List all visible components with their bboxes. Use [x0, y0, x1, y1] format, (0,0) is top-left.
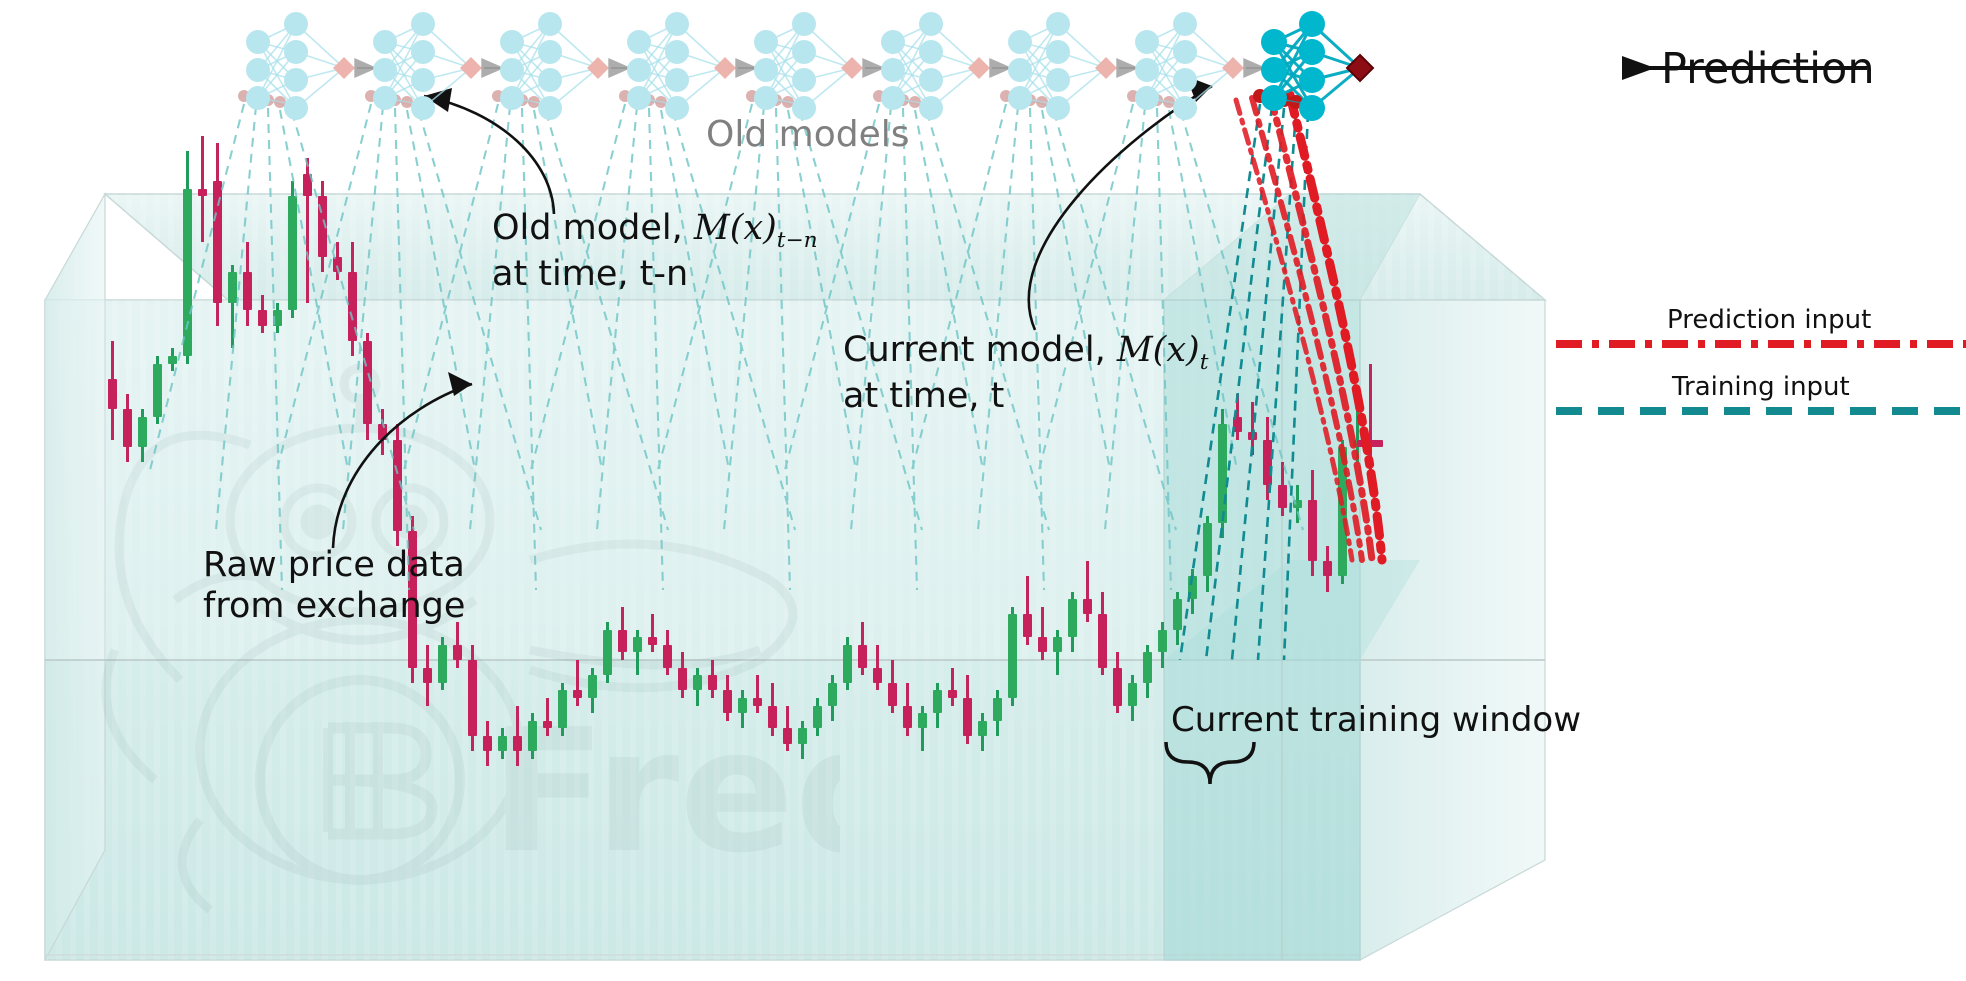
candle-body	[1173, 599, 1182, 629]
candle-body	[813, 706, 822, 729]
candle-body	[558, 690, 567, 728]
candle-body	[723, 690, 732, 713]
annotation-old-model: Old model, M(x)t−n at time, t-n	[492, 208, 818, 295]
candle-body	[948, 690, 957, 698]
candle-body	[1323, 561, 1332, 576]
candle-body	[1023, 614, 1032, 637]
candle-body	[1113, 668, 1122, 706]
candle-body	[753, 698, 762, 706]
candle-body	[378, 424, 387, 439]
candle-body	[168, 356, 177, 364]
candle-body	[618, 630, 627, 653]
candle-body	[1038, 637, 1047, 652]
candle-body	[498, 736, 507, 751]
candle-body	[333, 257, 342, 272]
candle-body	[153, 364, 162, 417]
candle-body	[258, 310, 267, 325]
candle-body	[1068, 599, 1077, 637]
candle-body	[288, 196, 297, 310]
candle-body	[363, 341, 372, 425]
candle-body	[1293, 500, 1302, 508]
current-model-sub: t	[1200, 350, 1209, 375]
candle-body	[918, 713, 927, 728]
old-model-network	[238, 12, 377, 120]
freqai-architecture-figure: FreqAI Old models Prediction Old model, …	[0, 0, 1966, 981]
candle-body	[468, 660, 477, 736]
old-model-network	[873, 12, 1012, 120]
old-model-prefix: Old model,	[492, 208, 694, 248]
candle-body	[633, 637, 642, 652]
candle-body	[543, 721, 552, 729]
candle-wick	[756, 675, 759, 713]
candle-body	[243, 272, 252, 310]
candle-body	[873, 668, 882, 683]
candle-wick	[576, 660, 579, 706]
candle-body	[933, 690, 942, 713]
candle-wick	[951, 668, 954, 706]
candle-body	[1083, 599, 1092, 614]
candle-body	[1218, 424, 1227, 523]
raw-price-line2: from exchange	[203, 586, 465, 627]
candle-body	[138, 417, 147, 447]
candle-body	[513, 736, 522, 751]
old-model-sub: t−n	[777, 228, 818, 253]
candle-body	[708, 675, 717, 690]
candle-body	[528, 721, 537, 751]
old-model-network	[746, 12, 885, 120]
candle-wick	[1251, 402, 1254, 455]
candle-body	[903, 706, 912, 729]
candle-wick	[546, 698, 549, 736]
neural-network-row	[0, 0, 1966, 200]
candle-body	[1053, 637, 1062, 652]
candle-body	[888, 683, 897, 706]
candle-body	[1248, 432, 1257, 440]
candle-body	[393, 440, 402, 531]
current-model-prefix: Current model,	[843, 330, 1117, 370]
prediction-tick-body	[1357, 440, 1383, 447]
prediction-tick-wick	[1369, 364, 1372, 486]
candle-body	[1128, 683, 1137, 706]
raw-price-line1: Raw price data	[203, 545, 465, 586]
old-model-math: M(x)	[694, 208, 777, 248]
old-model-network	[1000, 12, 1139, 120]
legend-swatches	[1556, 330, 1966, 440]
candle-body	[738, 698, 747, 713]
candle-body	[588, 675, 597, 698]
candle-body	[693, 675, 702, 690]
old-model-network	[1127, 12, 1266, 120]
annotation-current-model: Current model, M(x)t at time, t	[843, 330, 1208, 417]
candle-body	[183, 189, 192, 356]
old-model-network	[619, 12, 758, 120]
old-models-label: Old models	[706, 114, 909, 156]
old-model-line2: at time, t-n	[492, 254, 818, 295]
candle-body	[1263, 440, 1272, 486]
candle-body	[843, 645, 852, 683]
candle-body	[438, 645, 447, 683]
current-model-math: M(x)	[1117, 330, 1200, 370]
candle-body	[1008, 614, 1017, 698]
prediction-label: Prediction	[1661, 44, 1875, 95]
candle-body	[108, 379, 117, 409]
candle-body	[1188, 576, 1197, 599]
old-model-network	[492, 12, 631, 120]
candle-body	[993, 698, 1002, 721]
candle-body	[348, 272, 357, 340]
old-model-network	[365, 12, 504, 120]
current-model-network	[1253, 11, 1373, 121]
candle-body	[1308, 500, 1317, 561]
candle-body	[123, 409, 132, 447]
candle-body	[423, 668, 432, 683]
candle-body	[768, 706, 777, 729]
training-window-label: Current training window	[1171, 700, 1581, 740]
candle-body	[453, 645, 462, 660]
candle-body	[1233, 417, 1242, 432]
candle-body	[828, 683, 837, 706]
candle-body	[678, 668, 687, 691]
candle-body	[798, 728, 807, 743]
candle-body	[858, 645, 867, 668]
candle-body	[273, 310, 282, 325]
candle-body	[1143, 652, 1152, 682]
candle-body	[1278, 485, 1287, 508]
current-model-line2: at time, t	[843, 376, 1208, 417]
candle-body	[483, 736, 492, 751]
candle-body	[783, 728, 792, 743]
candle-body	[1098, 614, 1107, 667]
candle-body	[318, 196, 327, 257]
candle-body	[978, 721, 987, 736]
candle-body	[573, 690, 582, 698]
candle-body	[663, 645, 672, 668]
candle-body	[963, 698, 972, 736]
candle-wick	[651, 614, 654, 652]
candle-body	[1203, 523, 1212, 576]
candle-body	[648, 637, 657, 645]
candle-body	[603, 630, 612, 676]
candle-body	[1338, 447, 1347, 576]
candle-body	[1158, 630, 1167, 653]
annotation-raw-price: Raw price data from exchange	[203, 545, 465, 628]
candle-body	[228, 272, 237, 302]
